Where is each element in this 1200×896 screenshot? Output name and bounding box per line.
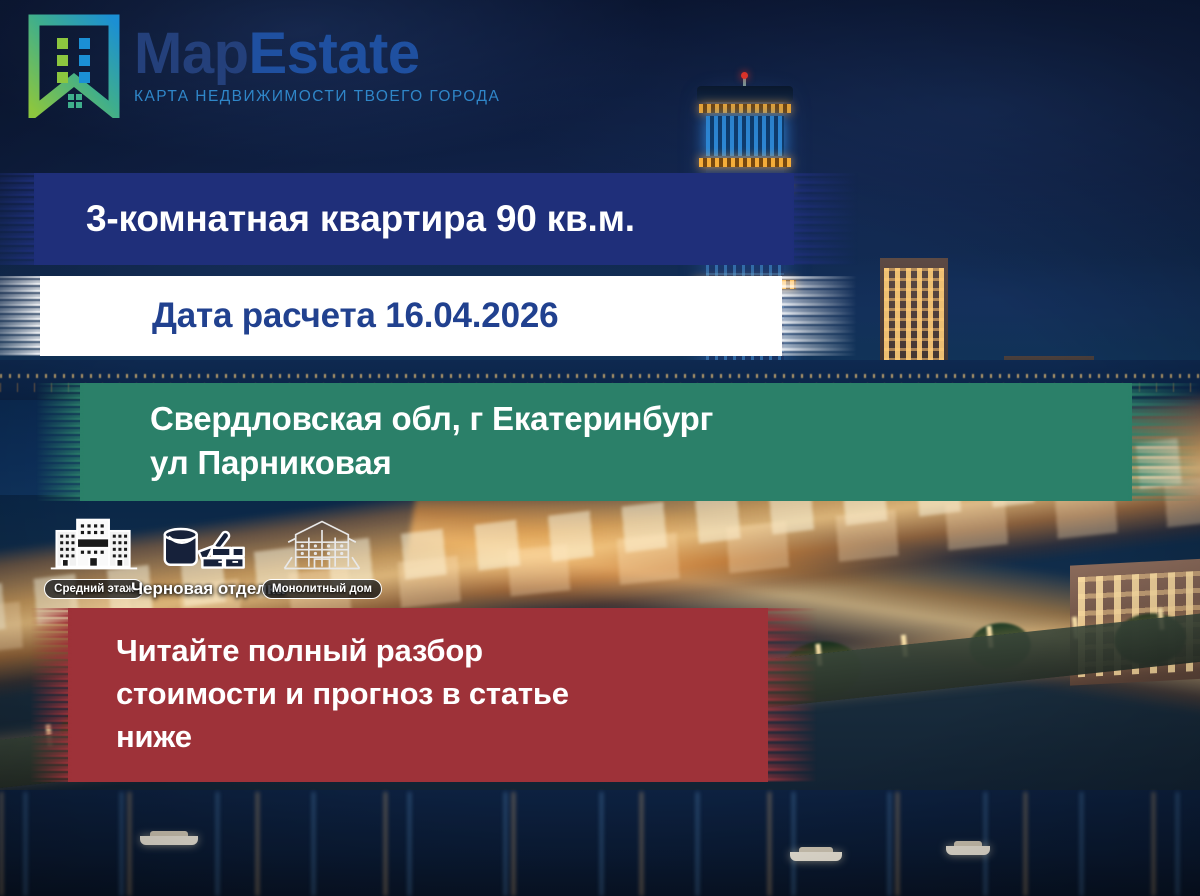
cta-line-2: стоимости и прогноз в статье — [116, 673, 742, 716]
brush-edge-right — [764, 608, 820, 782]
boat — [946, 846, 990, 855]
calculation-date: Дата расчета 16.04.2026 — [152, 296, 558, 336]
cta-line-1: Читайте полный разбор — [116, 630, 742, 673]
feature-label: Монолитный дом — [262, 579, 382, 599]
brush-edge-left — [36, 383, 84, 501]
boat — [140, 836, 198, 845]
calc-date-band: Дата расчета 16.04.2026 — [40, 276, 782, 356]
property-poster: MapEstate КАРТА НЕДВИЖИМОСТИ ТВОЕГО ГОРО… — [0, 0, 1200, 896]
brand-logo[interactable]: MapEstate КАРТА НЕДВИЖИМОСТИ ТВОЕГО ГОРО… — [28, 14, 500, 118]
feature-monolithic-house[interactable]: Монолитный дом — [268, 512, 376, 599]
brush-edge-right — [792, 173, 862, 265]
monolithic-frame-building-icon — [274, 512, 370, 576]
page-title: 3-комнатная квартира 90 кв.м. — [86, 198, 635, 240]
brand-text: MapEstate КАРТА НЕДВИЖИМОСТИ ТВОЕГО ГОРО… — [134, 26, 500, 107]
address-line-2: ул Парниковая — [150, 441, 1132, 485]
brand-wordmark: MapEstate — [134, 26, 500, 83]
brand-name-part1: Map — [134, 21, 249, 86]
paint-bucket-trowel-bricks-icon — [156, 512, 260, 576]
brush-edge-left — [0, 173, 36, 265]
feature-badges: Средний этаж — [40, 512, 376, 599]
brand-name-part2: Estate — [249, 21, 420, 86]
cta-band[interactable]: Читайте полный разбор стоимости и прогно… — [68, 608, 768, 782]
feature-rough-finish[interactable]: Черновая отделка — [154, 512, 262, 599]
bookmark-building-logo-icon — [28, 14, 120, 118]
address-band: Свердловская обл, г Екатеринбург ул Парн… — [80, 383, 1132, 501]
headline-band: 3-комнатная квартира 90 кв.м. — [34, 173, 794, 265]
boat — [790, 852, 842, 861]
brand-tagline: КАРТА НЕДВИЖИМОСТИ ТВОЕГО ГОРОДА — [134, 88, 500, 106]
apartment-building-icon — [46, 512, 142, 576]
brush-edge-right — [1128, 383, 1200, 501]
address-line-1: Свердловская обл, г Екатеринбург — [150, 397, 1132, 441]
cta-text: Читайте полный разбор стоимости и прогно… — [68, 608, 768, 758]
property-address: Свердловская обл, г Екатеринбург ул Парн… — [80, 383, 1132, 484]
cta-line-3: ниже — [116, 716, 742, 759]
brush-edge-left — [0, 276, 44, 356]
brush-edge-left — [30, 608, 72, 782]
brush-edge-right — [780, 276, 860, 356]
feature-label: Средний этаж — [44, 579, 144, 599]
